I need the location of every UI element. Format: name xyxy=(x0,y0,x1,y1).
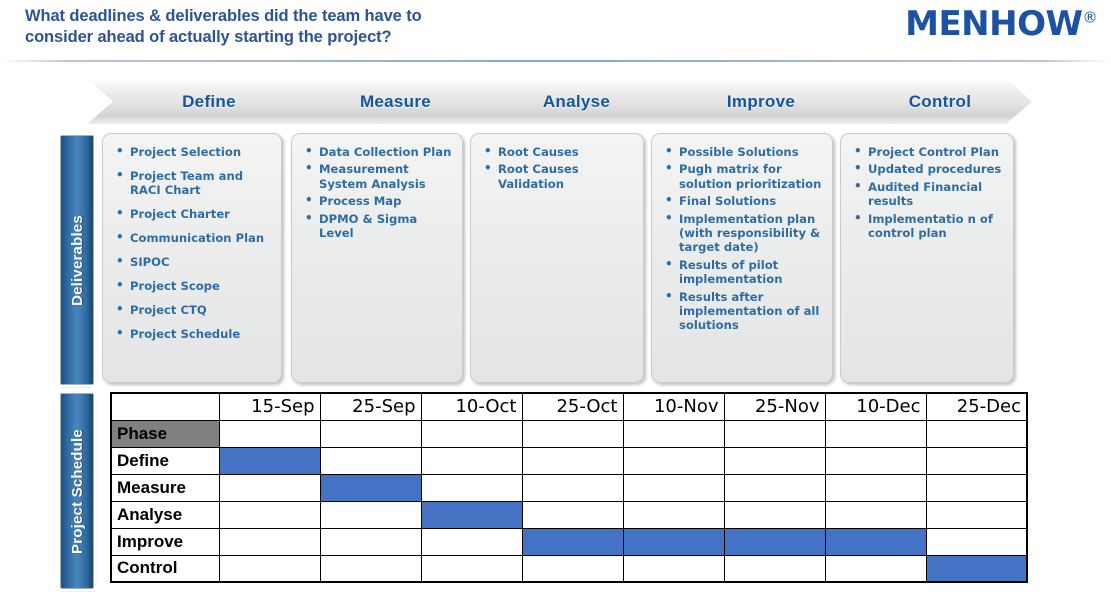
gantt-row-label-control: Control xyxy=(111,555,219,582)
gantt-head: 15-Sep25-Sep10-Oct25-Oct10-Nov25-Nov10-D… xyxy=(111,393,1027,420)
gantt-date-header: 10-Nov xyxy=(623,393,724,420)
deliverables-card-analyse: Root CausesRoot Causes Validation xyxy=(470,133,644,383)
gantt-empty-cell xyxy=(825,555,926,582)
gantt-empty-cell xyxy=(926,420,1027,447)
gantt-date-header: 25-Nov xyxy=(724,393,825,420)
gantt-row: Measure xyxy=(111,474,1027,501)
deliverable-item: Project Control Plan xyxy=(849,145,1005,159)
page-title: What deadlines & deliverables did the te… xyxy=(25,6,625,48)
gantt-empty-cell xyxy=(320,528,421,555)
deliverable-item: Results of pilot implementation xyxy=(660,258,824,287)
gantt-empty-cell xyxy=(926,528,1027,555)
gantt-empty-cell xyxy=(421,474,522,501)
deliverable-item: Project Schedule xyxy=(111,327,273,341)
brand-name: MENHOW xyxy=(905,4,1082,44)
gantt-bar-cell xyxy=(421,501,522,528)
gantt-empty-cell xyxy=(522,474,623,501)
deliverable-item: Root Causes Validation xyxy=(479,162,635,191)
deliverables-side-label-text: Deliverables xyxy=(69,215,86,306)
gantt-row: Control xyxy=(111,555,1027,582)
gantt-empty-cell xyxy=(724,420,825,447)
gantt-date-header: 10-Oct xyxy=(421,393,522,420)
phase-chevron-define[interactable]: Define xyxy=(87,79,309,124)
gantt-body: PhaseDefineMeasureAnalyseImproveControl xyxy=(111,420,1027,582)
gantt-empty-cell xyxy=(320,447,421,474)
phase-chevron-label: Measure xyxy=(360,92,431,112)
gantt-empty-cell xyxy=(421,528,522,555)
phase-chevron-analyse[interactable]: Analyse xyxy=(460,79,671,124)
schedule-side-label: Project Schedule xyxy=(60,393,94,589)
page-header: What deadlines & deliverables did the te… xyxy=(0,0,1111,62)
gantt-empty-cell xyxy=(724,501,825,528)
phase-chevron-measure[interactable]: Measure xyxy=(279,79,490,124)
gantt-empty-cell xyxy=(825,447,926,474)
deliverable-item: Results after implementation of all solu… xyxy=(660,290,824,333)
deliverable-item: Project Scope xyxy=(111,279,273,293)
gantt-empty-cell xyxy=(320,420,421,447)
deliverables-card-control: Project Control PlanUpdated proceduresAu… xyxy=(840,133,1014,383)
gantt-row: Define xyxy=(111,447,1027,474)
gantt-empty-cell xyxy=(522,501,623,528)
phase-chevron-label: Control xyxy=(909,92,972,112)
gantt-empty-cell xyxy=(926,474,1027,501)
deliverable-item: Root Causes xyxy=(479,145,635,159)
gantt-date-header: 25-Sep xyxy=(320,393,421,420)
deliverable-item: Implementation plan (with responsibility… xyxy=(660,212,824,255)
deliverables-list: Project Control PlanUpdated proceduresAu… xyxy=(849,145,1005,240)
gantt-empty-cell xyxy=(623,420,724,447)
gantt-empty-cell xyxy=(825,474,926,501)
gantt-bar-cell xyxy=(825,528,926,555)
gantt-date-header: 15-Sep xyxy=(219,393,320,420)
registered-trademark-icon: ® xyxy=(1083,9,1098,27)
gantt-bar-cell xyxy=(522,528,623,555)
deliverable-item: DPMO & Sigma Level xyxy=(300,212,454,241)
deliverable-item: Measurement System Analysis xyxy=(300,162,454,191)
deliverable-item: Project CTQ xyxy=(111,303,273,317)
schedule-side-label-text: Project Schedule xyxy=(69,429,86,554)
deliverable-item: Final Solutions xyxy=(660,194,824,208)
gantt-row-label-phase: Phase xyxy=(111,420,219,447)
gantt-empty-cell xyxy=(219,528,320,555)
gantt-empty-cell xyxy=(623,447,724,474)
deliverables-list: Project SelectionProject Team and RACI C… xyxy=(111,145,273,341)
gantt-bar-cell xyxy=(219,447,320,474)
gantt-date-header: 25-Dec xyxy=(926,393,1027,420)
gantt-empty-cell xyxy=(219,420,320,447)
gantt-bar-cell xyxy=(320,474,421,501)
gantt-row-label-measure: Measure xyxy=(111,474,219,501)
gantt-empty-cell xyxy=(421,420,522,447)
gantt-empty-cell xyxy=(825,501,926,528)
deliverable-item: Implementatio n of control plan xyxy=(849,212,1005,241)
gantt-bar-cell xyxy=(623,528,724,555)
gantt-empty-cell xyxy=(724,474,825,501)
gantt-empty-cell xyxy=(522,447,623,474)
phase-chevron-improve[interactable]: Improve xyxy=(641,79,859,124)
deliverable-item: Process Map xyxy=(300,194,454,208)
gantt-row: Phase xyxy=(111,420,1027,447)
gantt-empty-cell xyxy=(320,555,421,582)
gantt-row: Analyse xyxy=(111,501,1027,528)
gantt-empty-cell xyxy=(421,447,522,474)
gantt-row-label-define: Define xyxy=(111,447,219,474)
deliverable-item: Data Collection Plan xyxy=(300,145,454,159)
brand-logo: MENHOW® xyxy=(905,4,1097,44)
deliverable-item: SIPOC xyxy=(111,255,273,269)
deliverable-item: Updated procedures xyxy=(849,162,1005,176)
gantt-date-header: 10-Dec xyxy=(825,393,926,420)
schedule-section: Project Schedule 15-Sep25-Sep10-Oct25-Oc… xyxy=(60,392,1032,588)
phase-chevron-label: Improve xyxy=(727,92,795,112)
gantt-row-label-improve: Improve xyxy=(111,528,219,555)
phase-chevron-label: Define xyxy=(182,92,236,112)
gantt-empty-cell xyxy=(320,501,421,528)
gantt-empty-cell xyxy=(926,501,1027,528)
gantt-empty-cell xyxy=(219,501,320,528)
gantt-empty-cell xyxy=(724,447,825,474)
deliverable-item: Project Selection xyxy=(111,145,273,159)
deliverable-item: Communication Plan xyxy=(111,231,273,245)
gantt-bar-cell xyxy=(724,528,825,555)
deliverables-card-define: Project SelectionProject Team and RACI C… xyxy=(102,133,282,383)
deliverables-list: Possible SolutionsPugh matrix for soluti… xyxy=(660,145,824,333)
gantt-empty-cell xyxy=(724,555,825,582)
header-divider xyxy=(0,60,1111,62)
page-title-line-1: What deadlines & deliverables did the te… xyxy=(25,7,422,25)
gantt-row: Improve xyxy=(111,528,1027,555)
gantt-header-row: 15-Sep25-Sep10-Oct25-Oct10-Nov25-Nov10-D… xyxy=(111,393,1027,420)
gantt-empty-cell xyxy=(623,555,724,582)
phase-chevron-label: Analyse xyxy=(543,92,610,112)
gantt-row-label-analyse: Analyse xyxy=(111,501,219,528)
gantt-corner-cell xyxy=(111,393,219,420)
gantt-date-header: 25-Oct xyxy=(522,393,623,420)
gantt-bar-cell xyxy=(926,555,1027,582)
gantt-empty-cell xyxy=(219,474,320,501)
gantt-empty-cell xyxy=(219,555,320,582)
deliverable-item: Possible Solutions xyxy=(660,145,824,159)
deliverable-item: Pugh matrix for solution prioritization xyxy=(660,162,824,191)
gantt-empty-cell xyxy=(421,555,522,582)
gantt-empty-cell xyxy=(623,474,724,501)
phase-chevron-band: DefineMeasureAnalyseImproveControl xyxy=(87,79,1032,124)
page-title-line-2: consider ahead of actually starting the … xyxy=(25,27,625,48)
deliverables-card-measure: Data Collection PlanMeasurement System A… xyxy=(291,133,463,383)
deliverable-item: Audited Financial results xyxy=(849,180,1005,209)
gantt-empty-cell xyxy=(623,501,724,528)
deliverables-card-improve: Possible SolutionsPugh matrix for soluti… xyxy=(651,133,833,383)
gantt-empty-cell xyxy=(926,447,1027,474)
gantt-empty-cell xyxy=(522,420,623,447)
deliverable-item: Project Charter xyxy=(111,207,273,221)
deliverable-item: Project Team and RACI Chart xyxy=(111,169,273,198)
deliverables-side-label: Deliverables xyxy=(60,135,94,385)
deliverables-list: Root CausesRoot Causes Validation xyxy=(479,145,635,191)
deliverables-list: Data Collection PlanMeasurement System A… xyxy=(300,145,454,240)
gantt-empty-cell xyxy=(825,420,926,447)
gantt-empty-cell xyxy=(522,555,623,582)
deliverables-section: Deliverables Project SelectionProject Te… xyxy=(60,133,1032,385)
project-schedule-gantt-table: 15-Sep25-Sep10-Oct25-Oct10-Nov25-Nov10-D… xyxy=(110,392,1028,583)
